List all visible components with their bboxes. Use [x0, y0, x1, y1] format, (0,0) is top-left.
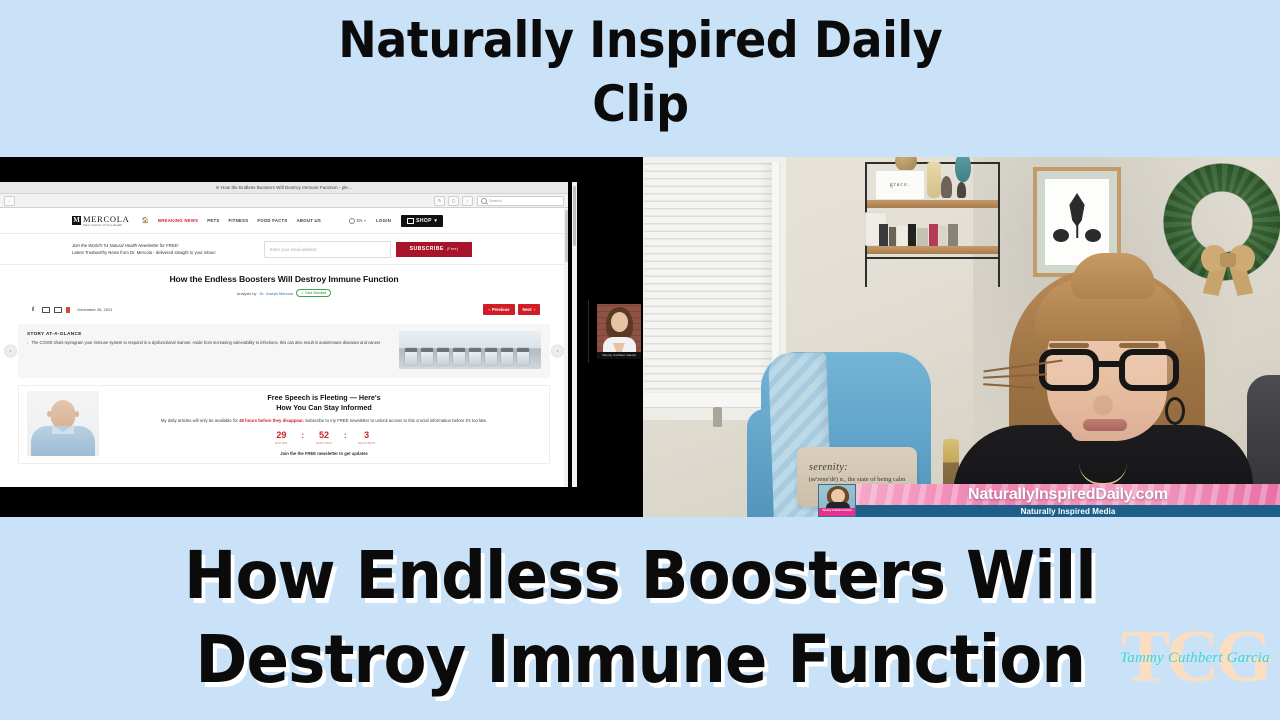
presenter [943, 257, 1280, 517]
shop-caret-icon: ▾ [434, 218, 437, 224]
previous-button[interactable]: ‹ Previous [483, 304, 514, 315]
avatar-name-text: Tammy Cuthbert Garcia [819, 508, 855, 513]
promo-author-photo [27, 391, 99, 456]
countdown-hours: 29 HOURS [270, 430, 292, 445]
login-link[interactable]: LOGIN [376, 218, 391, 223]
promo-body-highlight: 48 hours before they disappear. [239, 418, 304, 423]
fact-checked-label: Fact Checked [305, 291, 326, 295]
avatar-face [831, 489, 845, 503]
shelf-board-top [867, 200, 998, 208]
bottom-headline-block: How Endless Boosters Will Destroy Immune… [0, 520, 1280, 720]
nav-right-group: EN LOGIN SHOP ▾ [349, 215, 443, 227]
art-paper [1045, 179, 1109, 265]
lower-third-subtitle: Naturally Inspired Media [1021, 507, 1116, 516]
top-title-line-1: Naturally Inspired Daily [338, 8, 942, 72]
article-date: December 28, 2021 [77, 307, 112, 312]
presenter-mouth [1083, 419, 1127, 431]
promo-heading-line-2: How You Can Stay Informed [107, 403, 541, 413]
site-navbar: M MERCOLA Take Control of Your Health 🏠 … [0, 208, 568, 234]
promo-footer-text: Join the the FREE newsletter to get upda… [107, 451, 541, 456]
decor-bird-2 [957, 182, 966, 198]
book [939, 225, 947, 246]
presenter-thumbnail-overlay: Tammy Cuthbert Garcia [588, 300, 641, 363]
book [897, 226, 907, 246]
mercola-site: M MERCOLA Take Control of Your Health 🏠 … [0, 208, 568, 487]
logo-name: MERCOLA [83, 215, 129, 224]
next-button[interactable]: Next › [518, 304, 540, 315]
photo-ear-right [75, 411, 79, 417]
presenter-earring [1165, 397, 1185, 425]
shelf-board-bottom [867, 246, 998, 254]
free-speech-promo-card: Free Speech is Fleeting — Here's How You… [18, 385, 550, 464]
bottom-headline-line-1: How Endless Boosters Will [184, 534, 1096, 618]
toolbar-icon-group: ✎ ▢ ↑ [434, 196, 473, 206]
lower-third-subtitle-row: Naturally Inspired Media [856, 505, 1280, 517]
book [917, 228, 928, 246]
nav-items: 🏠 BREAKING NEWS PETS FITNESS FOOD FACTS … [141, 217, 321, 224]
newsletter-copy: Join the World's #1 Natural Health Newsl… [72, 243, 242, 255]
email-icon[interactable] [42, 307, 50, 313]
story-bullet-text: The COVID shots reprogram your immune sy… [31, 340, 380, 347]
tcg-watermark: TCG Tammy Cuthbert Garcia [1112, 612, 1278, 712]
site-logo[interactable]: M MERCOLA Take Control of Your Health [72, 215, 129, 227]
nav-item-fitness[interactable]: FITNESS [228, 218, 248, 223]
newsletter-bar: Join the World's #1 Natural Health Newsl… [0, 234, 568, 265]
countdown-minutes-value: 52 [319, 430, 329, 440]
leaf-stem [1076, 212, 1078, 238]
countdown-hours-label: HOURS [275, 441, 287, 445]
thumbnail-caption-text: Tammy Cuthbert Garcia [597, 352, 641, 359]
decor-teal-vase [955, 157, 971, 182]
promo-body-part-1: My daily articles will only be available… [161, 418, 239, 423]
pencil-icon[interactable]: ✎ [434, 196, 445, 206]
window-latch [713, 407, 722, 427]
tab-title: How the Endless Boosters Will Destroy Im… [221, 185, 352, 190]
story-at-a-glance-card: STORY AT-A-GLANCE › The COVID shots repr… [18, 324, 550, 378]
promo-heading-line-1: Free Speech is Fleeting — Here's [107, 393, 541, 403]
countdown-separator-2: : [344, 430, 347, 441]
author-link[interactable]: Dr. Joseph Mercola [259, 291, 293, 296]
browser-toolbar: ← ✎ ▢ ↑ Search [0, 194, 568, 208]
top-title-block: Naturally Inspired Daily Clip [0, 8, 1280, 148]
nav-item-about-us[interactable]: ABOUT US [297, 218, 321, 223]
logo-mark: M [72, 216, 81, 225]
home-icon[interactable]: 🏠 [141, 217, 148, 224]
video-content-band: How the Endless Boosters Will Destroy Im… [0, 157, 1280, 517]
video-frame: Naturally Inspired Daily Clip How the En… [0, 0, 1280, 720]
byline-prefix: Analysis by [237, 291, 257, 296]
story-at-a-glance-bullet: › The COVID shots reprogram your immune … [27, 340, 391, 347]
decor-vase [927, 162, 941, 198]
avatar-name-bar: Tammy Cuthbert Garcia [819, 508, 855, 516]
story-thumbnail-image [399, 331, 541, 369]
language-label: EN [357, 218, 363, 223]
nav-item-pets[interactable]: PETS [207, 218, 219, 223]
decor-bird-1 [941, 176, 952, 198]
article-meta-row: f December 28, 2021 ‹ Previous [0, 304, 568, 315]
print-icon[interactable] [54, 307, 62, 313]
prev-chevron-icon: ‹ [488, 307, 489, 312]
top-title-line-2: Clip [592, 72, 688, 136]
countdown-minutes-label: MINUTES [316, 441, 332, 445]
facebook-icon[interactable]: f [32, 307, 38, 313]
presenter-eyebrow-left [1049, 343, 1089, 348]
article-header: How the Endless Boosters Will Destroy Im… [0, 265, 568, 315]
watermark-name: Tammy Cuthbert Garcia [1112, 650, 1278, 667]
newsletter-email-input[interactable]: Enter your email address [264, 241, 391, 258]
book [908, 224, 916, 246]
subscribe-sub-label: (Free) [447, 247, 459, 251]
browser-tab[interactable]: How the Endless Boosters Will Destroy Im… [216, 185, 352, 190]
bullet-icon: › [27, 340, 28, 347]
book [889, 227, 896, 246]
fact-checked-badge: ✓ Fact Checked [296, 289, 331, 297]
logo-text: MERCOLA Take Control of Your Health [83, 215, 129, 227]
globe-icon [349, 218, 355, 224]
glasses-lens-right [1119, 349, 1179, 391]
book [929, 224, 938, 246]
shop-label: SHOP [416, 218, 432, 224]
glasses-bridge [1097, 361, 1121, 367]
promo-body: My daily articles will only be available… [107, 417, 541, 424]
article-title: How the Endless Boosters Will Destroy Im… [0, 274, 568, 284]
presenter-thumbnail-image: Tammy Cuthbert Garcia [597, 304, 641, 359]
shelf-books [879, 218, 989, 246]
shop-button[interactable]: SHOP ▾ [401, 215, 443, 227]
promo-countdown: 29 HOURS : 52 MINUTES : 3 [107, 430, 541, 445]
screen-share-panel: How the Endless Boosters Will Destroy Im… [0, 157, 643, 517]
newsletter-line-2: Latest Trustworthy News from Dr. Mercola… [72, 250, 242, 255]
logo-tagline: Take Control of Your Health [83, 224, 129, 227]
lower-third-banner: Tammy Cuthbert Garcia NaturallyInspiredD… [818, 484, 1280, 517]
book [948, 224, 958, 246]
back-arrow-icon[interactable]: ← [4, 196, 15, 206]
pdf-icon[interactable] [66, 307, 70, 312]
share-scrollbar[interactable] [572, 182, 577, 487]
check-icon: ✓ [301, 291, 304, 295]
search-input[interactable]: Search [477, 196, 564, 206]
countdown-seconds: 3 SECONDS [356, 430, 378, 445]
story-at-a-glance-heading: STORY AT-A-GLANCE [27, 331, 391, 336]
browser-window: How the Endless Boosters Will Destroy Im… [0, 182, 568, 487]
lower-third-url: NaturallyInspiredDaily.com [968, 486, 1168, 504]
presenter-eyebrow-right [1119, 343, 1159, 348]
presenter-topknot [1071, 253, 1155, 299]
nav-item-breaking-news[interactable]: BREAKING NEWS [158, 218, 198, 223]
newsletter-line-1: Join the World's #1 Natural Health Newsl… [72, 243, 242, 248]
pillow-word: serenity: [809, 462, 848, 473]
photo-shirt [31, 426, 95, 456]
lower-third-avatar: Tammy Cuthbert Garcia [818, 484, 856, 517]
article-byline: Analysis by Dr. Joseph Mercola ✓ Fact Ch… [0, 289, 568, 297]
thumbnail-face [611, 312, 628, 332]
bookmark-icon[interactable]: ▢ [448, 196, 459, 206]
chevron-down-icon [364, 220, 366, 222]
share-icon-group: f December 28, 2021 [32, 307, 113, 313]
next-chevron-icon: › [534, 307, 535, 312]
lower-third-url-row: NaturallyInspiredDaily.com [856, 484, 1280, 505]
presenter-glasses [1039, 349, 1179, 393]
bottom-headline-line-2: Destroy Immune Function [195, 618, 1085, 702]
story-at-a-glance-text: STORY AT-A-GLANCE › The COVID shots repr… [27, 331, 391, 371]
site-scrollbar[interactable] [564, 208, 568, 487]
glasses-lens-left [1039, 349, 1099, 391]
story-at-a-glance-section: ‹ › STORY AT-A-GLANCE › The COVID shots … [18, 324, 550, 378]
lower-third-main: NaturallyInspiredDaily.com Naturally Ins… [856, 484, 1280, 517]
cart-icon [407, 218, 414, 224]
webcam-panel: grace. [643, 157, 1280, 517]
nav-item-food-facts[interactable]: FOOD FACTS [257, 218, 287, 223]
thumbnail-caption-bar: Tammy Cuthbert Garcia [597, 352, 641, 359]
promo-body-part-2: Subscribe to my FREE newsletter to unloc… [304, 418, 487, 423]
next-label: Next [523, 307, 532, 312]
tab-favicon [216, 186, 219, 189]
newsletter-subscribe-button[interactable]: SUBSCRIBE (Free) [396, 242, 472, 257]
newsletter-email-placeholder: Enter your email address [270, 247, 317, 252]
promo-text: Free Speech is Fleeting — Here's How You… [107, 391, 541, 456]
countdown-separator-1: : [301, 430, 304, 441]
carousel-prev-button[interactable]: ‹ [4, 345, 17, 358]
countdown-seconds-value: 3 [364, 430, 369, 440]
presenter-nose [1093, 395, 1113, 415]
article-pager: ‹ Previous Next › [483, 304, 540, 315]
share-icon[interactable]: ↑ [462, 196, 473, 206]
leaf-small-right [1085, 229, 1101, 242]
leaf-small-left [1053, 229, 1069, 242]
book [879, 224, 888, 246]
grace-sign: grace. [875, 170, 925, 200]
previous-label: Previous [492, 307, 510, 312]
countdown-hours-value: 29 [276, 430, 286, 440]
subscribe-label: SUBSCRIBE [410, 246, 444, 252]
search-placeholder: Search [489, 198, 502, 203]
carousel-next-button[interactable]: › [551, 345, 564, 358]
search-icon [481, 198, 487, 204]
countdown-seconds-label: SECONDS [358, 441, 375, 445]
countdown-minutes: 52 MINUTES [313, 430, 335, 445]
language-selector[interactable]: EN [349, 218, 366, 224]
browser-tabstrip: How the Endless Boosters Will Destroy Im… [0, 182, 568, 194]
